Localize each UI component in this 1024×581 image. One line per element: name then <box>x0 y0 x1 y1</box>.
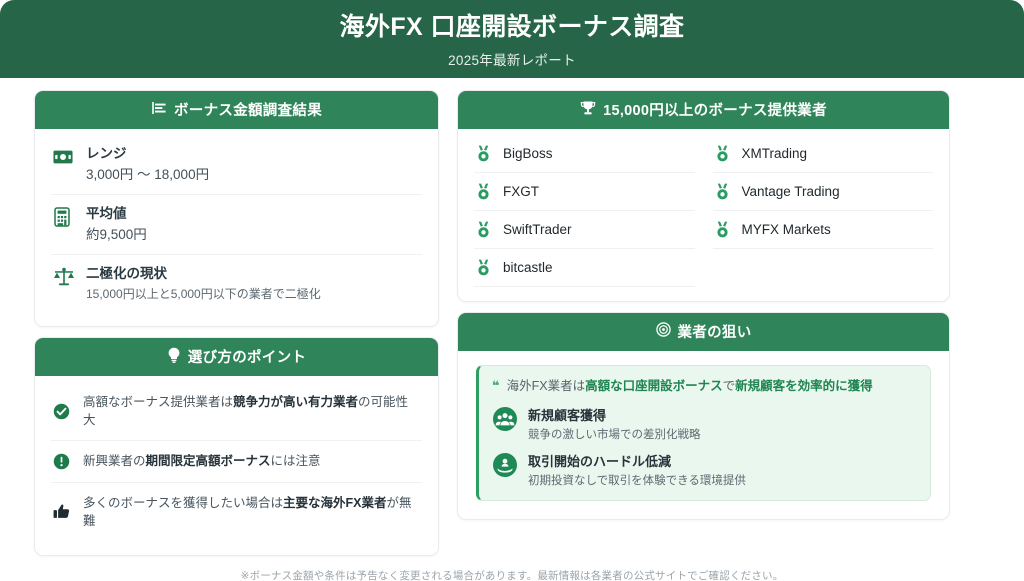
medal-icon <box>715 221 731 238</box>
medal-icon <box>476 259 492 276</box>
point-text: 高額なボーナス提供業者は競争力が高い有力業者の可能性大 <box>83 393 420 429</box>
selection-points-card: 選び方のポイント 高額なボーナス提供業者は競争力が高い有力業者の可能性大 <box>34 337 439 556</box>
brokers-title: 15,000円以上のボーナス提供業者 <box>603 99 827 120</box>
aim-title: 業者の狙い <box>678 321 752 342</box>
broker-name: XMTrading <box>742 146 808 161</box>
thumbs-up-icon <box>53 503 73 520</box>
broker-name: bitcastle <box>503 260 553 275</box>
broker-item[interactable]: XMTrading <box>713 135 934 173</box>
medal-icon <box>476 145 492 162</box>
stat-value-range: 3,000円 ～ 18,000円 <box>86 166 420 185</box>
point-row: 多くのボーナスを獲得したい場合は主要な海外FX業者が無難 <box>51 483 422 541</box>
stat-value-polarization: 15,000円以上と5,000円以下の業者で二極化 <box>86 286 420 303</box>
stat-label-average: 平均値 <box>86 206 127 221</box>
survey-results-body: レンジ 3,000円 ～ 18,000円 <box>35 129 438 326</box>
page-banner: 海外FX 口座開設ボーナス調査 2025年最新レポート <box>0 0 1024 78</box>
point-text: 新興業者の期間限定高額ボーナスには注意 <box>83 452 321 470</box>
broker-item[interactable]: BigBoss <box>474 135 695 173</box>
calculator-icon <box>53 205 75 232</box>
page-subtitle: 2025年最新レポート <box>448 49 576 69</box>
aim-item: 取引開始のハードル低減 初期投資なしで取引を体験できる環境提供 <box>492 451 917 488</box>
medal-icon <box>715 145 731 162</box>
broker-item[interactable]: MYFX Markets <box>713 211 934 249</box>
broker-name: FXGT <box>503 184 539 199</box>
hand-holding-user-icon <box>492 451 518 483</box>
scales-icon <box>53 265 75 292</box>
broker-name: SwiftTrader <box>503 222 572 237</box>
broker-item[interactable]: Vantage Trading <box>713 173 934 211</box>
aim-header: 業者の狙い <box>458 313 949 351</box>
users-icon <box>492 405 518 437</box>
lightbulb-icon <box>167 347 181 367</box>
aim-item-desc: 競争の激しい市場での差別化戦略 <box>528 426 701 442</box>
broker-item[interactable]: FXGT <box>474 173 695 211</box>
brokers-header: 15,000円以上のボーナス提供業者 <box>458 91 949 129</box>
page-title: 海外FX 口座開設ボーナス調査 <box>340 13 685 42</box>
stat-row-range: レンジ 3,000円 ～ 18,000円 <box>51 135 422 195</box>
broker-name: BigBoss <box>503 146 553 161</box>
brokers-card: 15,000円以上のボーナス提供業者 <box>457 90 950 302</box>
bar-chart-icon <box>151 100 167 120</box>
survey-results-card: ボーナス金額調査結果 レンジ <box>34 90 439 327</box>
stat-row-average: 平均値 約9,500円 <box>51 195 422 255</box>
stat-label-polarization: 二極化の現状 <box>86 266 167 281</box>
stat-value-average: 約9,500円 <box>86 226 420 245</box>
stat-row-polarization: 二極化の現状 15,000円以上と5,000円以下の業者で二極化 <box>51 255 422 312</box>
right-column: 15,000円以上のボーナス提供業者 <box>457 90 950 556</box>
aim-item-desc: 初期投資なしで取引を体験できる環境提供 <box>528 472 746 488</box>
survey-results-title: ボーナス金額調査結果 <box>174 99 322 120</box>
aim-item-title: 新規顧客獲得 <box>528 405 701 424</box>
selection-points-header: 選び方のポイント <box>35 338 438 376</box>
aim-card: 業者の狙い ❝ 海外FX業者は高額な口座開設ボーナスで新規顧客を効率的に獲得 <box>457 312 950 520</box>
medal-icon <box>476 221 492 238</box>
broker-name: MYFX Markets <box>742 222 831 237</box>
selection-points-body: 高額なボーナス提供業者は競争力が高い有力業者の可能性大 新興業者の期間限定高額ボ… <box>35 376 438 555</box>
exclamation-circle-icon <box>53 453 73 470</box>
medal-icon <box>715 183 731 200</box>
aim-quote-box: ❝ 海外FX業者は高額な口座開設ボーナスで新規顧客を効率的に獲得 <box>476 365 931 501</box>
point-row: 高額なボーナス提供業者は競争力が高い有力業者の可能性大 <box>51 382 422 441</box>
quote-mark-icon: ❝ <box>492 377 500 396</box>
broker-name: Vantage Trading <box>742 184 840 199</box>
left-column: ボーナス金額調査結果 レンジ <box>34 90 439 556</box>
content-area: ボーナス金額調査結果 レンジ <box>0 78 1024 556</box>
aim-quote-text: ❝ 海外FX業者は高額な口座開設ボーナスで新規顧客を効率的に獲得 <box>492 377 917 396</box>
broker-item[interactable]: SwiftTrader <box>474 211 695 249</box>
brokers-grid: BigBoss XMTrading <box>474 135 933 287</box>
aim-item-title: 取引開始のハードル低減 <box>528 451 746 470</box>
point-text: 多くのボーナスを獲得したい場合は主要な海外FX業者が無難 <box>83 494 420 530</box>
trophy-icon <box>580 100 596 120</box>
selection-points-title: 選び方のポイント <box>188 346 306 367</box>
brokers-body: BigBoss XMTrading <box>458 129 949 301</box>
money-bill-icon <box>53 145 75 172</box>
stat-label-range: レンジ <box>86 146 127 161</box>
point-row: 新興業者の期間限定高額ボーナスには注意 <box>51 441 422 482</box>
medal-icon <box>476 183 492 200</box>
footer-note: ※ボーナス金額や条件は予告なく変更される場合があります。最新情報は各業者の公式サ… <box>0 568 1024 581</box>
aim-item: 新規顧客獲得 競争の激しい市場での差別化戦略 <box>492 405 917 442</box>
bullseye-icon <box>656 322 671 341</box>
broker-item[interactable]: bitcastle <box>474 249 695 287</box>
infographic-page: 海外FX 口座開設ボーナス調査 2025年最新レポート ボーナス金 <box>0 0 1024 581</box>
aim-body: ❝ 海外FX業者は高額な口座開設ボーナスで新規顧客を効率的に獲得 <box>458 351 949 519</box>
survey-results-header: ボーナス金額調査結果 <box>35 91 438 129</box>
check-circle-icon <box>53 403 73 420</box>
